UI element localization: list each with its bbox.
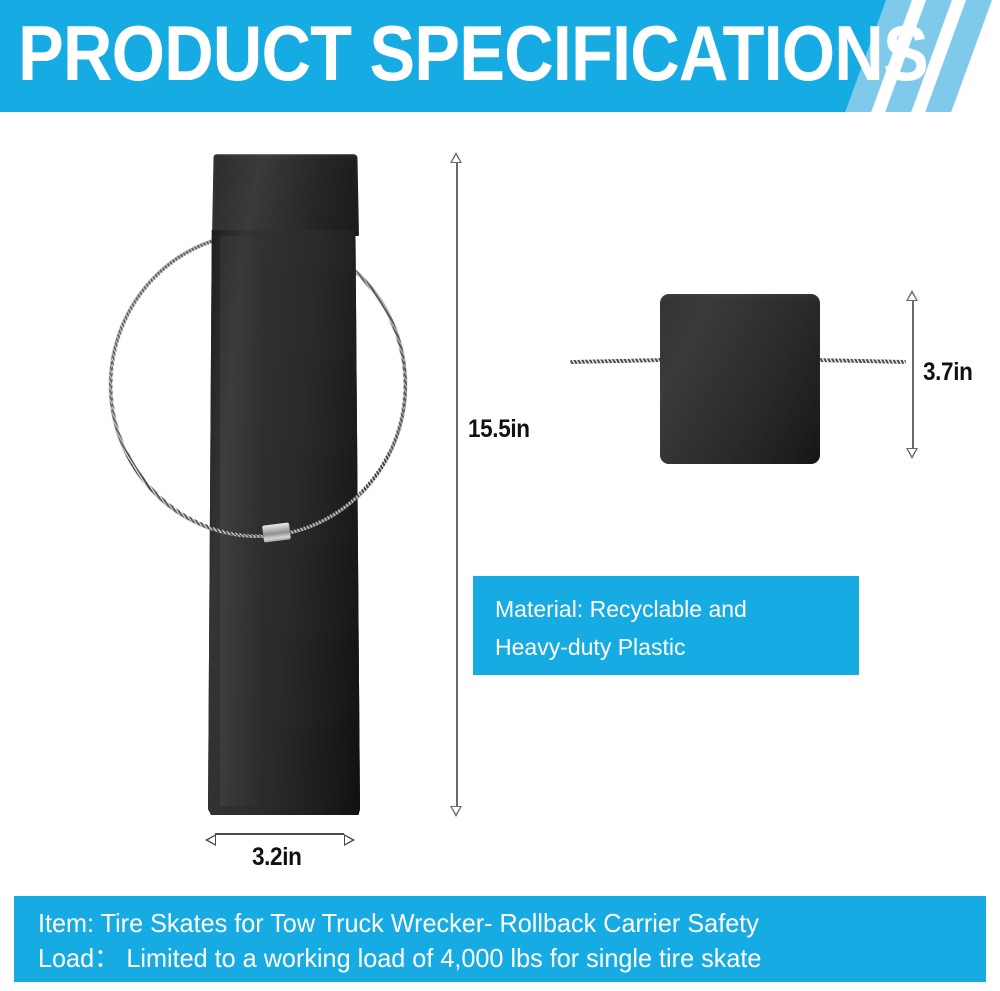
material-line-2: Heavy-duty Plastic [495,628,859,666]
tire-skate-ramp-side-view [95,140,425,830]
end-view-block [660,294,820,464]
depth-dimension-label: 3.7in [923,358,972,387]
product-specification-infographic: PRODUCT SPECIFICATIONS 15.5in 3.2in [0,0,1000,991]
end-view-cable-right [816,358,906,364]
depth-arrow-top [906,290,918,301]
width-dimension-line [215,833,344,835]
ramp-top-lip [212,154,359,236]
page-title: PRODUCT SPECIFICATIONS [18,12,928,94]
width-arrow-left [205,834,216,846]
tire-skate-end-view [570,285,900,475]
depth-dimension-line [912,300,914,452]
width-arrow-right [344,834,355,846]
cable-crimp-ferrule [262,522,291,542]
info-item-line: Item: Tire Skates for Tow Truck Wrecker-… [38,906,958,941]
info-panel: Item: Tire Skates for Tow Truck Wrecker-… [14,896,986,982]
height-arrow-top [450,152,462,163]
height-dimension-line [456,162,458,810]
depth-arrow-bottom [906,448,918,459]
end-view-cable-left [570,358,666,364]
width-dimension-label: 3.2in [252,843,301,872]
height-dimension-label: 15.5in [468,415,530,444]
material-callout-box: Material: Recyclable and Heavy-duty Plas… [473,576,859,675]
material-line-1: Material: Recyclable and [495,590,859,628]
height-arrow-bottom [450,806,462,817]
header-banner: PRODUCT SPECIFICATIONS [0,0,1000,114]
info-load-line: Load： Limited to a working load of 4,000… [38,941,958,976]
